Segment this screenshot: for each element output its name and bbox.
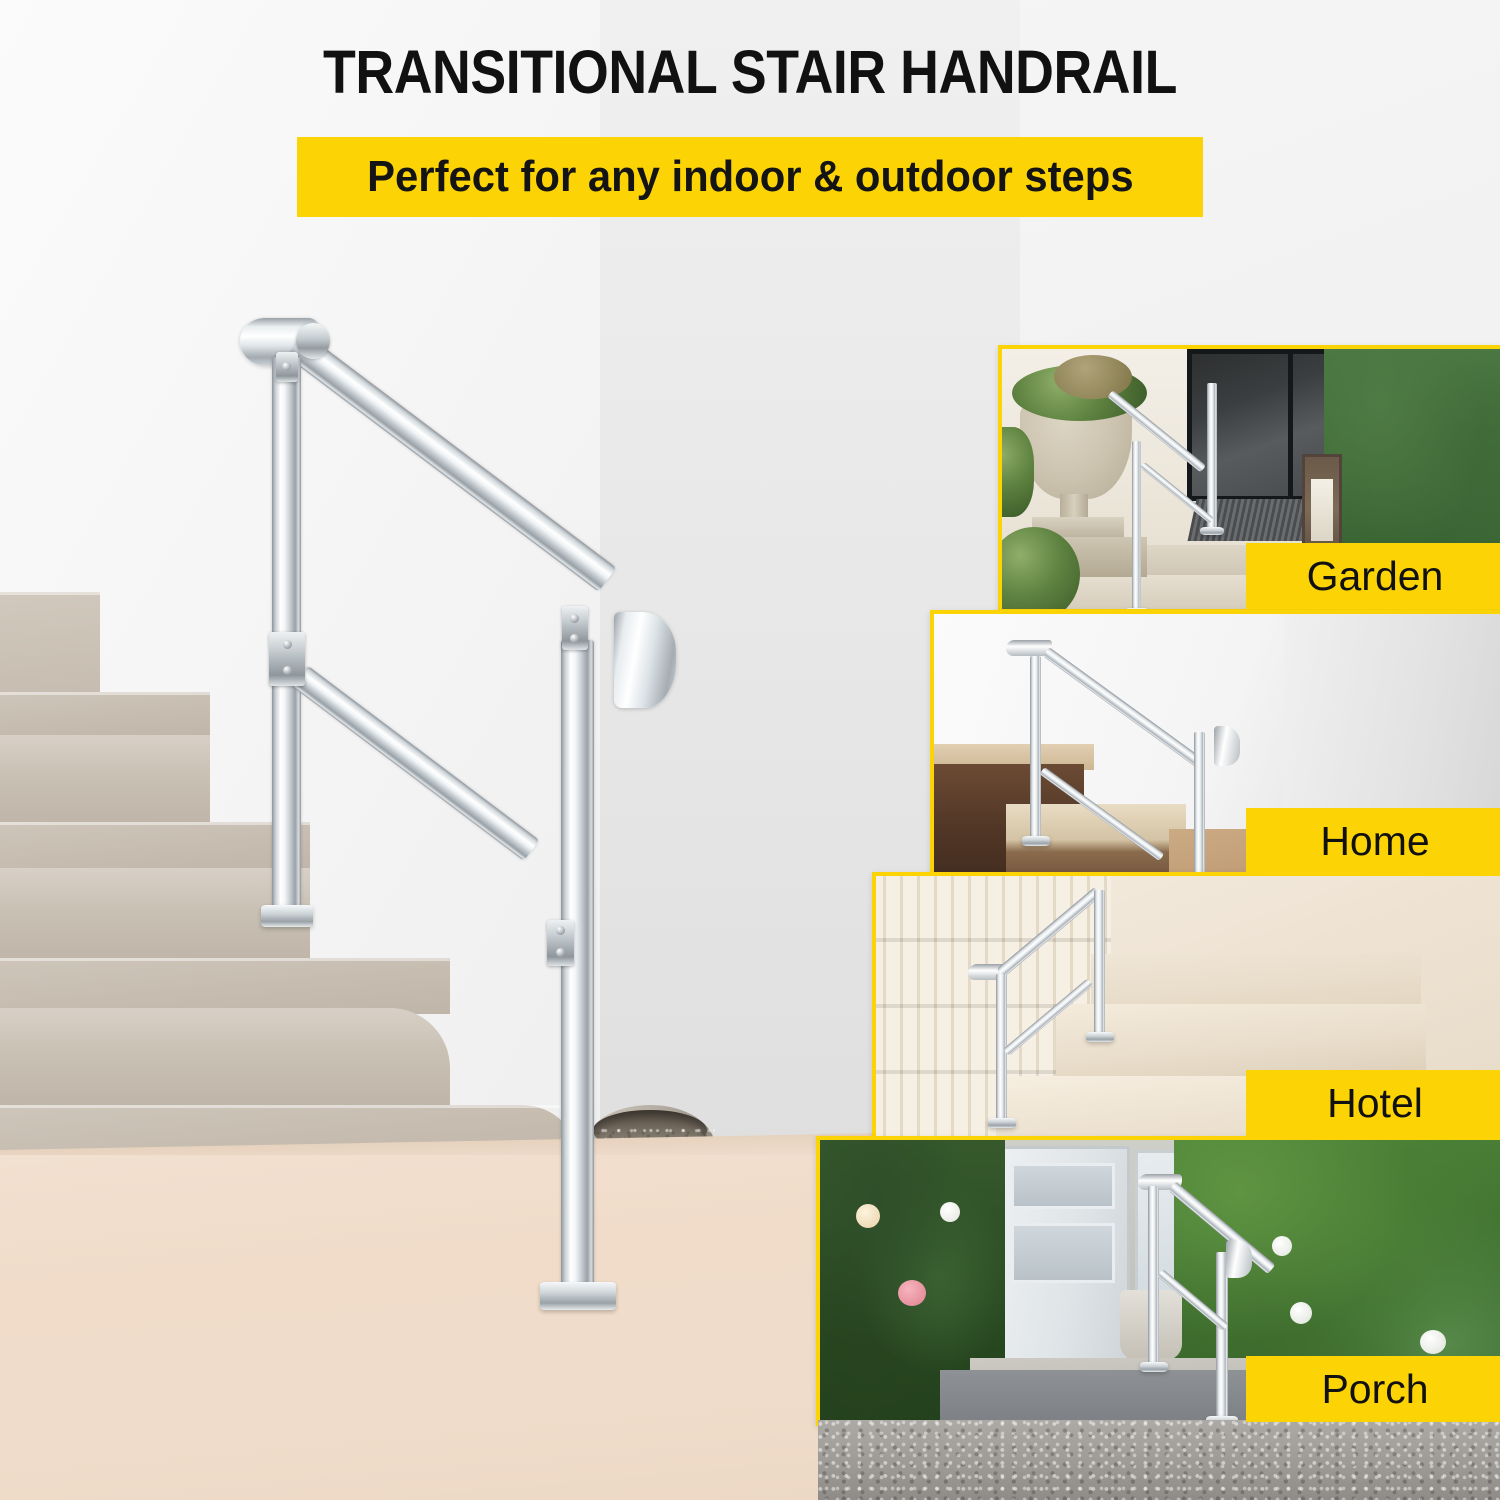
use-case-label-hotel: Hotel — [1246, 1070, 1500, 1136]
page-title: TRANSITIONAL STAIR HANDRAIL — [90, 40, 1410, 104]
mini-flange — [1125, 608, 1149, 609]
use-case-label-home: Home — [1246, 808, 1500, 874]
front-door — [990, 1146, 1130, 1361]
clamp-upper-post — [269, 632, 305, 686]
use-case-label-porch: Porch — [1246, 1356, 1500, 1422]
rose-bloom — [940, 1202, 960, 1222]
use-case-card-home[interactable]: Home — [930, 610, 1500, 878]
label-text: Home — [1320, 818, 1429, 865]
use-case-card-hotel[interactable]: Hotel — [872, 872, 1500, 1140]
door-panel — [1011, 1163, 1115, 1209]
clamp-lower-post — [547, 920, 574, 966]
rose-bloom — [1290, 1302, 1312, 1324]
boxwood-shrub — [1002, 427, 1034, 517]
clamp-rail-joint — [562, 606, 588, 650]
stair-step — [0, 958, 450, 1014]
door-panel — [1011, 1223, 1115, 1283]
stair-step — [0, 692, 210, 740]
rose-bloom — [856, 1204, 880, 1228]
urn-foliage — [1054, 355, 1132, 399]
mini-rail-return — [1214, 726, 1240, 766]
mini-flange — [1140, 1362, 1168, 1372]
use-case-label-garden: Garden — [1246, 543, 1500, 609]
label-text: Porch — [1321, 1366, 1428, 1413]
mini-rail-return — [1226, 1240, 1252, 1278]
mini-flange — [988, 1118, 1016, 1128]
label-text: Garden — [1307, 553, 1444, 600]
mini-flange — [1022, 836, 1050, 846]
mini-flange — [1086, 1032, 1114, 1042]
mini-handrail-post — [1207, 383, 1217, 533]
clamp-top-rail — [276, 352, 298, 382]
rose-bloom — [898, 1280, 926, 1306]
mini-handrail-post — [1194, 732, 1205, 874]
use-case-card-garden[interactable]: Garden — [998, 345, 1500, 613]
stair-step — [0, 735, 210, 831]
rail-return-lower — [614, 612, 676, 708]
rail-elbow-joint — [296, 323, 330, 359]
rose-bloom — [1272, 1236, 1292, 1256]
mini-flange — [1200, 527, 1224, 535]
use-case-card-porch[interactable]: Porch — [816, 1136, 1500, 1426]
post-flange-upper — [261, 905, 313, 927]
stair-step — [0, 822, 310, 874]
porch-ground-strip — [818, 1420, 1500, 1500]
product-infographic-canvas: TRANSITIONAL STAIR HANDRAIL Perfect for … — [0, 0, 1500, 1500]
stair-step — [0, 1008, 450, 1116]
subtitle-banner: Perfect for any indoor & outdoor steps — [297, 137, 1203, 217]
rose-bloom — [1420, 1330, 1446, 1354]
label-text: Hotel — [1327, 1080, 1423, 1127]
mini-handrail-post — [1094, 890, 1105, 1038]
post-flange-lower — [540, 1282, 616, 1310]
mini-handrail-post — [1216, 1252, 1228, 1422]
mini-handrail-post — [1030, 656, 1041, 841]
subtitle-text: Perfect for any indoor & outdoor steps — [367, 152, 1133, 202]
